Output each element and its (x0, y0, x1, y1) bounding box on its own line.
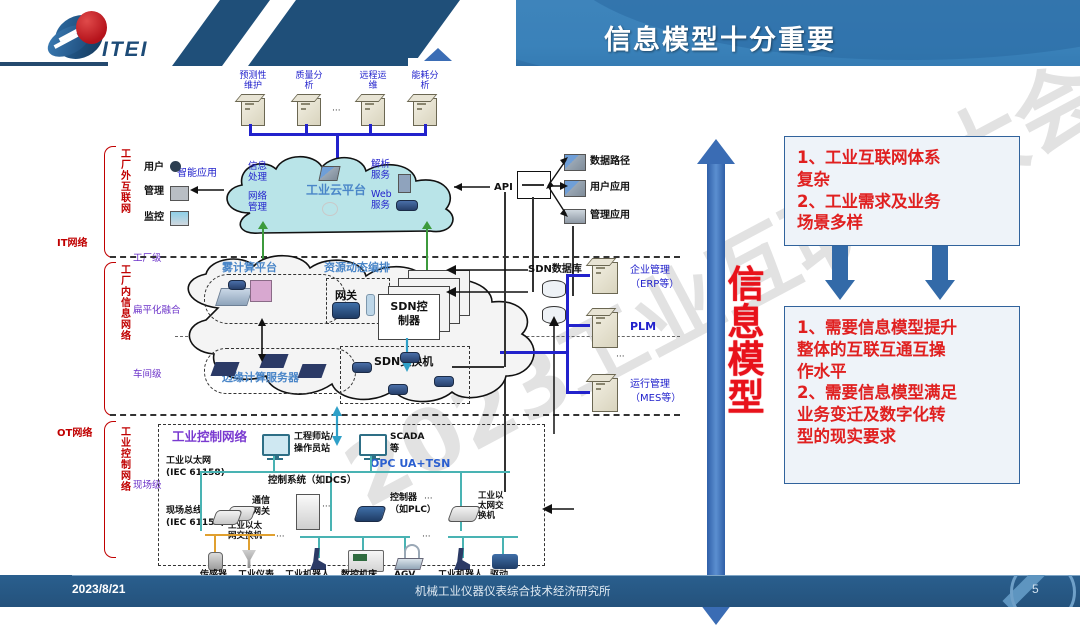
controller-ellipsis: ··· (424, 494, 433, 504)
enterprise-bus-branch-erp (566, 274, 590, 277)
right-top-line-4: 场景多样 (797, 212, 1007, 234)
erp-line2: （ERP等） (630, 279, 679, 290)
bus-device-left (300, 536, 410, 538)
green-arrowhead-right-up (422, 221, 432, 229)
arrow-cloud-to-api (452, 180, 498, 194)
right-bottom-line-2: 整体的互联互通互操 (797, 339, 1007, 361)
fog-node-icon-2 (250, 280, 272, 302)
right-bottom-line-4: 2、需要信息模型满足 (797, 382, 1007, 404)
edge-server-icon-3 (297, 364, 326, 378)
itei-logo: ITEI (40, 8, 190, 60)
right-bottom-line-1: 1、需要信息模型提升 (797, 317, 1007, 339)
bus-drop-4 (424, 124, 427, 134)
edge-server-icon-1 (210, 362, 239, 376)
center-arrow-head-up (697, 139, 735, 164)
app-label-remote-om: 远程运维 (356, 71, 390, 92)
arrows-api-to-apps (546, 152, 572, 226)
enterprise-bus-branch-plm (566, 324, 590, 327)
sdn-database-cylinder-icon (542, 280, 566, 298)
label-engineer-station: 工程师站/ 操作员站 (294, 432, 333, 455)
center-char-4: 型 (716, 379, 776, 417)
switch-left-line2: 网交换机 (228, 531, 262, 541)
mes-line2: （MES等） (630, 393, 681, 404)
agv-wifi-icon (404, 544, 420, 558)
app-label-predictive-maintenance: 预测性维护 (236, 71, 270, 92)
sdn-switch-right-link-v (504, 291, 506, 367)
label-industrial-control-network: 工业控制网络 (118, 426, 130, 492)
label-data-path: 数据路径 (590, 156, 630, 168)
right-bottom-line-3: 作水平 (797, 361, 1007, 383)
device-ellipsis-2: ··· (422, 532, 431, 542)
right-bottom-line-6: 型的现实要求 (797, 426, 1007, 448)
cloud-label-parse-service: 解析服务 (371, 160, 397, 182)
footer-page-number: 5 (1032, 582, 1039, 596)
label-fog-platform: 雾计算平台 (222, 262, 277, 275)
label-scada: SCADA 等 (390, 432, 425, 455)
ind-ethernet-line1: 工业以太网 (166, 456, 211, 466)
right-arrow-right-shaft (932, 246, 948, 281)
label-mes: 运行管理 （MES等） (630, 378, 681, 405)
label-ot-network: OT网络 (57, 428, 92, 440)
header-swoosh (169, 0, 463, 66)
right-box-top: 1、工业互联网体系 复杂 2、工业需求及业务 场景多样 (784, 136, 1020, 246)
label-factory-external: 工厂外互联网 (118, 148, 130, 214)
center-char-3: 模 (716, 341, 776, 379)
label-sdn-controller: SDN控 制器 (384, 300, 434, 328)
label-erp: 企业管理 （ERP等） (630, 264, 679, 291)
enterprise-ellipsis: ··· (616, 352, 625, 362)
diagram-canvas: 2023工业互联网大会 IT网络 OT网络 工厂外互联网 工厂内信息网络 工业控… (0, 66, 1080, 575)
right-box-bottom: 1、需要信息模型提升 整体的互联互通互操 作水平 2、需要信息模型满足 业务变迁… (784, 306, 1020, 484)
arrows-into-sdn-controller (440, 264, 530, 308)
label-monitoring: 监控 (144, 212, 164, 224)
right-top-line-3: 2、工业需求及业务 (797, 191, 1007, 213)
label-opc-ua-tsn: OPC UA+TSN (370, 458, 450, 471)
plc-controller-icon (353, 506, 386, 522)
right-arrow-left-shaft (832, 246, 848, 281)
brace-factory-internal (104, 262, 116, 416)
sdn-controller-line1: SDN控 (390, 300, 427, 313)
cnc-screen-icon (353, 554, 367, 561)
right-bottom-line-5: 业务变迁及数字化转 (797, 404, 1007, 426)
right-top-line-1: 1、工业互联网体系 (797, 147, 1007, 169)
drive-icon (492, 554, 518, 569)
brace-industrial-control (104, 421, 116, 558)
slide-header: ITEI 信息模型十分重要 (0, 0, 1080, 66)
bus-ethernet-vert-right (460, 471, 462, 531)
fog-router-icon (228, 280, 246, 290)
user-icon (170, 161, 181, 172)
right-arrow-right-head (925, 280, 955, 300)
center-char-2: 息 (716, 304, 776, 342)
server-icon-plm (592, 312, 618, 348)
logo-text: ITEI (102, 38, 149, 62)
dcs-cabinet-icon (296, 494, 320, 530)
agv-icon (394, 558, 423, 570)
api-vertical-line-3 (572, 226, 574, 296)
server-icon-mes (592, 378, 618, 412)
slide-footer: 2023/8/21 机械工业仪器仪表综合技术经济研究所 5 (0, 575, 1080, 607)
controller-line1: 控制器 (390, 493, 417, 503)
cloud-globe-icon (322, 202, 338, 216)
label-switch-right: 工业以 太网交 换机 (478, 491, 504, 522)
center-char-1: 信 (716, 266, 776, 304)
engineer-station-monitor-icon (262, 434, 290, 456)
right-arrow-left-head (825, 280, 855, 300)
switch-right-line2: 太网交 (478, 501, 504, 511)
sdn-switch-icon-4 (434, 376, 454, 387)
arrow-into-control-network (540, 502, 576, 516)
bus-ethernet-drop-scada (370, 456, 372, 472)
gateway-device-icon (332, 302, 360, 319)
bus-industrial-ethernet (200, 471, 510, 473)
api-box-line (522, 184, 544, 186)
label-management-app: 管理应用 (590, 210, 630, 222)
fog-node-icon-1 (215, 288, 253, 306)
label-workshop-level: 车间级 (133, 370, 162, 381)
enterprise-bus-vertical (566, 274, 569, 394)
enterprise-bus-to-cloud (500, 351, 568, 354)
sdn-switch-icon-1 (352, 362, 372, 373)
enterprise-bus-branch-mes (566, 391, 590, 394)
footer-organization: 机械工业仪器仪表综合技术经济研究所 (415, 583, 611, 599)
label-user: 用户 (144, 162, 164, 174)
label-user-app: 用户应用 (590, 182, 630, 194)
bus-ethernet-drop-engineer (273, 456, 275, 472)
sdn-switch-icon-3 (388, 384, 408, 395)
erp-line1: 企业管理 (630, 265, 670, 276)
app-label-energy-analysis: 能耗分析 (408, 71, 442, 92)
mes-line1: 运行管理 (630, 379, 670, 390)
header-triangle-icon (424, 48, 452, 61)
footer-circle-decoration (1010, 575, 1076, 607)
comm-gateway-line1: 通信 (252, 496, 270, 506)
bus-ethernet-vert-left (200, 471, 202, 531)
footer-top-line (72, 575, 1080, 576)
web-service-icon (396, 200, 418, 211)
server-icon-quality-analysis (297, 98, 321, 126)
app-ellipsis: ··· (332, 106, 341, 116)
sdn-switch-icon-2 (400, 352, 420, 363)
sdn-controller-line2: 制器 (398, 314, 420, 327)
scada-line2: 等 (390, 444, 399, 454)
bus-device-right (448, 536, 518, 538)
cloud-label-center-platform: 工业云平台 (306, 184, 366, 198)
label-management: 管理 (144, 186, 164, 198)
connector-fog-to-edge (254, 318, 270, 362)
scada-monitor-icon (359, 434, 387, 456)
cloud-label-web-service: Web服务 (371, 190, 399, 212)
center-arrow-label: 信 息 模 型 (716, 266, 776, 417)
engineer-station-line1: 工程师站/ (294, 432, 333, 442)
sdn-switch-right-link (452, 366, 504, 368)
cloud-server-icon (318, 166, 340, 181)
sensor-icon (208, 552, 223, 571)
label-it-network: IT网络 (57, 238, 88, 250)
bus-drop-3 (369, 124, 372, 134)
label-industrial-ethernet: 工业以太网 (IEC 61158) (166, 456, 225, 479)
switch-right-line1: 工业以 (478, 491, 504, 501)
green-arrowhead-left-up (258, 221, 268, 229)
bus-drop-2 (305, 124, 308, 134)
parse-service-icon (398, 174, 411, 193)
bus-drop-1 (249, 124, 252, 134)
label-plm: PLM (630, 321, 656, 334)
server-icon-energy-analysis (413, 98, 437, 126)
controller-line2: （如PLC） (390, 505, 436, 515)
engineer-station-line2: 操作员站 (294, 444, 330, 454)
server-icon-remote-om (361, 98, 385, 126)
dcs-ellipsis: ··· (322, 502, 331, 512)
label-control-system: 控制系统（如DCS） (268, 476, 356, 487)
page-title: 信息模型十分重要 (604, 18, 836, 57)
switch-right-line3: 换机 (478, 511, 495, 521)
fieldbus-line1: 现场总线 (166, 506, 202, 516)
server-icon-erp (592, 262, 618, 294)
monitoring-icon (170, 211, 189, 226)
app-label-quality-analysis: 质量分析 (292, 71, 326, 92)
gateway-bar-icon (366, 294, 375, 316)
cloud-label-info-process: 信息处理 (248, 162, 274, 184)
server-icon-predictive-maintenance (241, 98, 265, 126)
label-factory-internal: 工厂内信息网络 (118, 264, 130, 341)
brace-factory-external (104, 146, 116, 258)
arrow-db-up (548, 316, 560, 436)
label-resource-orchestration: 资源动态编排 (324, 262, 390, 275)
footer-date: 2023/8/21 (72, 582, 125, 596)
management-icon (170, 186, 189, 201)
separator-it-ot-bottom (110, 414, 680, 416)
right-top-line-2: 复杂 (797, 169, 1007, 191)
cloud-label-network-mgmt: 网络管理 (248, 192, 274, 214)
arrow-cloud-to-users (190, 184, 225, 196)
device-ellipsis-1: ··· (276, 532, 285, 542)
scada-line1: SCADA (390, 432, 425, 442)
label-control-network-title: 工业控制网络 (172, 430, 247, 444)
